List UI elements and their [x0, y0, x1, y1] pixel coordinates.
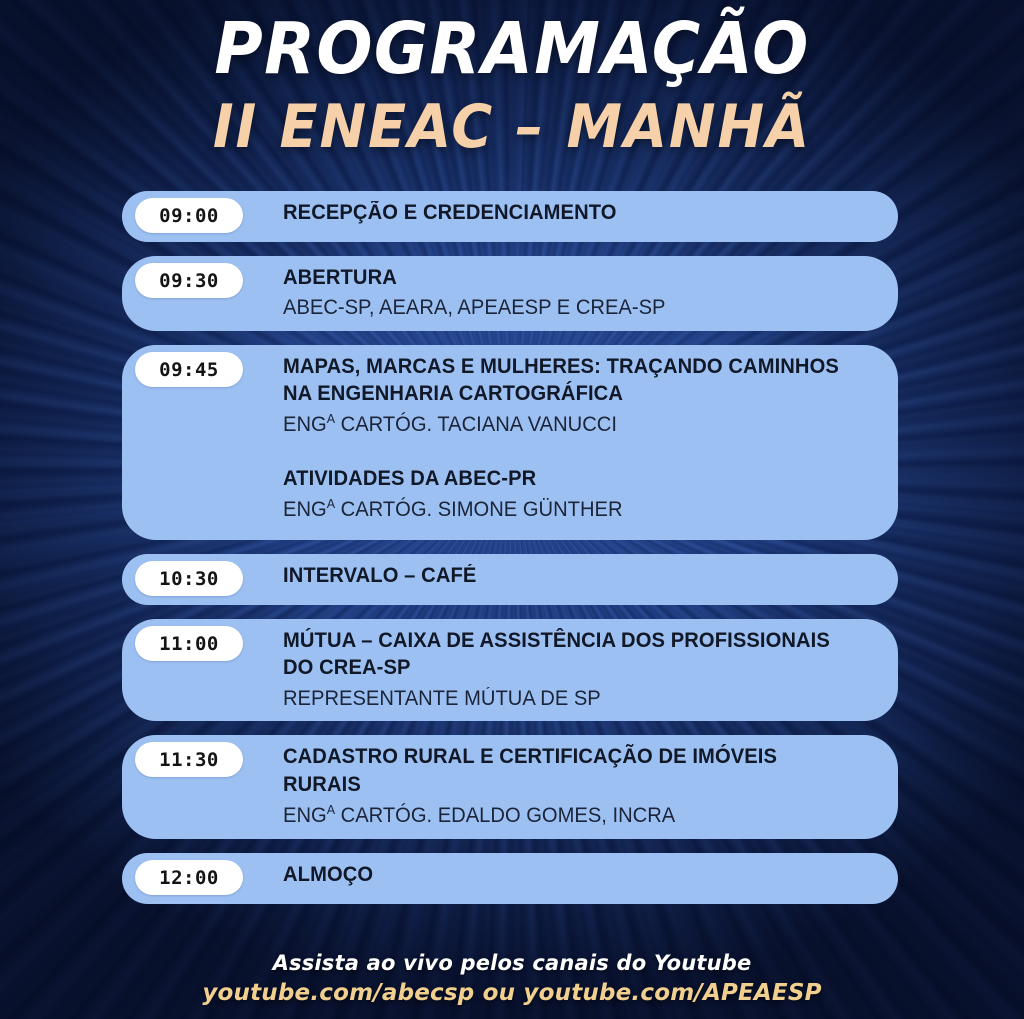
ordinal-indicator: A	[327, 411, 335, 426]
time-badge: 09:45	[135, 352, 243, 387]
time-badge: 11:00	[135, 626, 243, 661]
entry-speaker: ENGA CARTÓG. SIMONE GÜNTHER	[283, 495, 848, 524]
time-badge: 09:00	[135, 198, 243, 233]
page-title: PROGRAMAÇÃO	[36, 14, 988, 84]
schedule-row: 11:00MÚTUA – CAIXA DE ASSISTÊNCIA DOS PR…	[122, 619, 898, 721]
time-badge: 10:30	[135, 561, 243, 596]
livestream-note: Assista ao vivo pelos canais do Youtube	[0, 951, 1024, 975]
schedule-entry: RECEPÇÃO E CREDENCIAMENTO	[283, 199, 872, 226]
entry-speaker: ENGA CARTÓG. EDALDO GOMES, INCRA	[283, 801, 848, 830]
poster-canvas: PROGRAMAÇÃO II ENEAC – MANHÃ 09:00RECEPÇ…	[0, 0, 1024, 1019]
entry-title: MAPAS, MARCAS E MULHERES: TRAÇANDO CAMIN…	[283, 353, 848, 408]
entry-title: MÚTUA – CAIXA DE ASSISTÊNCIA DOS PROFISS…	[283, 627, 848, 682]
schedule-row: 12:00ALMOÇO	[122, 853, 898, 904]
schedule-entry: CADASTRO RURAL E CERTIFICAÇÃO DE IMÓVEIS…	[283, 743, 872, 829]
schedule-row-body: MÚTUA – CAIXA DE ASSISTÊNCIA DOS PROFISS…	[243, 626, 898, 712]
schedule-row-body: ABERTURAABEC-SP, AEARA, APEAESP E CREA-S…	[243, 263, 898, 322]
schedule-row-body: INTERVALO – CAFÉ	[243, 561, 898, 589]
schedule-row-body: ALMOÇO	[243, 860, 898, 888]
entry-title: ABERTURA	[283, 264, 848, 291]
schedule-row: 10:30INTERVALO – CAFÉ	[122, 554, 898, 605]
poster-header: PROGRAMAÇÃO II ENEAC – MANHÃ	[0, 0, 1024, 159]
ordinal-indicator: A	[327, 802, 335, 817]
entry-title: INTERVALO – CAFÉ	[283, 562, 848, 589]
schedule-row: 09:30ABERTURAABEC-SP, AEARA, APEAESP E C…	[122, 256, 898, 331]
livestream-channels[interactable]: youtube.com/abecsp ou youtube.com/APEAES…	[0, 980, 1024, 1006]
schedule-entry: ABERTURAABEC-SP, AEARA, APEAESP E CREA-S…	[283, 264, 872, 322]
schedule-entry: ATIVIDADES DA ABEC-PRENGA CARTÓG. SIMONE…	[283, 465, 872, 524]
schedule-row-body: CADASTRO RURAL E CERTIFICAÇÃO DE IMÓVEIS…	[243, 742, 898, 829]
schedule-entry: INTERVALO – CAFÉ	[283, 562, 872, 589]
schedule-row-body: MAPAS, MARCAS E MULHERES: TRAÇANDO CAMIN…	[243, 352, 898, 524]
time-badge: 11:30	[135, 742, 243, 777]
entry-title: ALMOÇO	[283, 861, 848, 888]
ordinal-indicator: A	[327, 496, 335, 511]
poster-footer: Assista ao vivo pelos canais do Youtube …	[0, 951, 1024, 1006]
entry-speaker: REPRESENTANTE MÚTUA DE SP	[283, 685, 848, 713]
schedule-entry: ALMOÇO	[283, 861, 872, 888]
time-badge: 09:30	[135, 263, 243, 298]
entry-speaker: ENGA CARTÓG. TACIANA VANUCCI	[283, 410, 848, 439]
entry-speaker: ABEC-SP, AEARA, APEAESP E CREA-SP	[283, 294, 848, 322]
page-subtitle: II ENEAC – MANHÃ	[36, 96, 988, 159]
entry-title: RECEPÇÃO E CREDENCIAMENTO	[283, 199, 848, 226]
entry-title: CADASTRO RURAL E CERTIFICAÇÃO DE IMÓVEIS…	[283, 743, 848, 798]
schedule-entry: MAPAS, MARCAS E MULHERES: TRAÇANDO CAMIN…	[283, 353, 872, 439]
schedule-row: 11:30CADASTRO RURAL E CERTIFICAÇÃO DE IM…	[122, 735, 898, 838]
schedule-row: 09:45MAPAS, MARCAS E MULHERES: TRAÇANDO …	[122, 345, 898, 540]
schedule-entry: MÚTUA – CAIXA DE ASSISTÊNCIA DOS PROFISS…	[283, 627, 872, 712]
schedule-row: 09:00RECEPÇÃO E CREDENCIAMENTO	[122, 191, 898, 242]
time-badge: 12:00	[135, 860, 243, 895]
schedule-row-body: RECEPÇÃO E CREDENCIAMENTO	[243, 198, 898, 226]
entry-title: ATIVIDADES DA ABEC-PR	[283, 465, 848, 492]
schedule-list: 09:00RECEPÇÃO E CREDENCIAMENTO09:30ABERT…	[0, 191, 1024, 904]
